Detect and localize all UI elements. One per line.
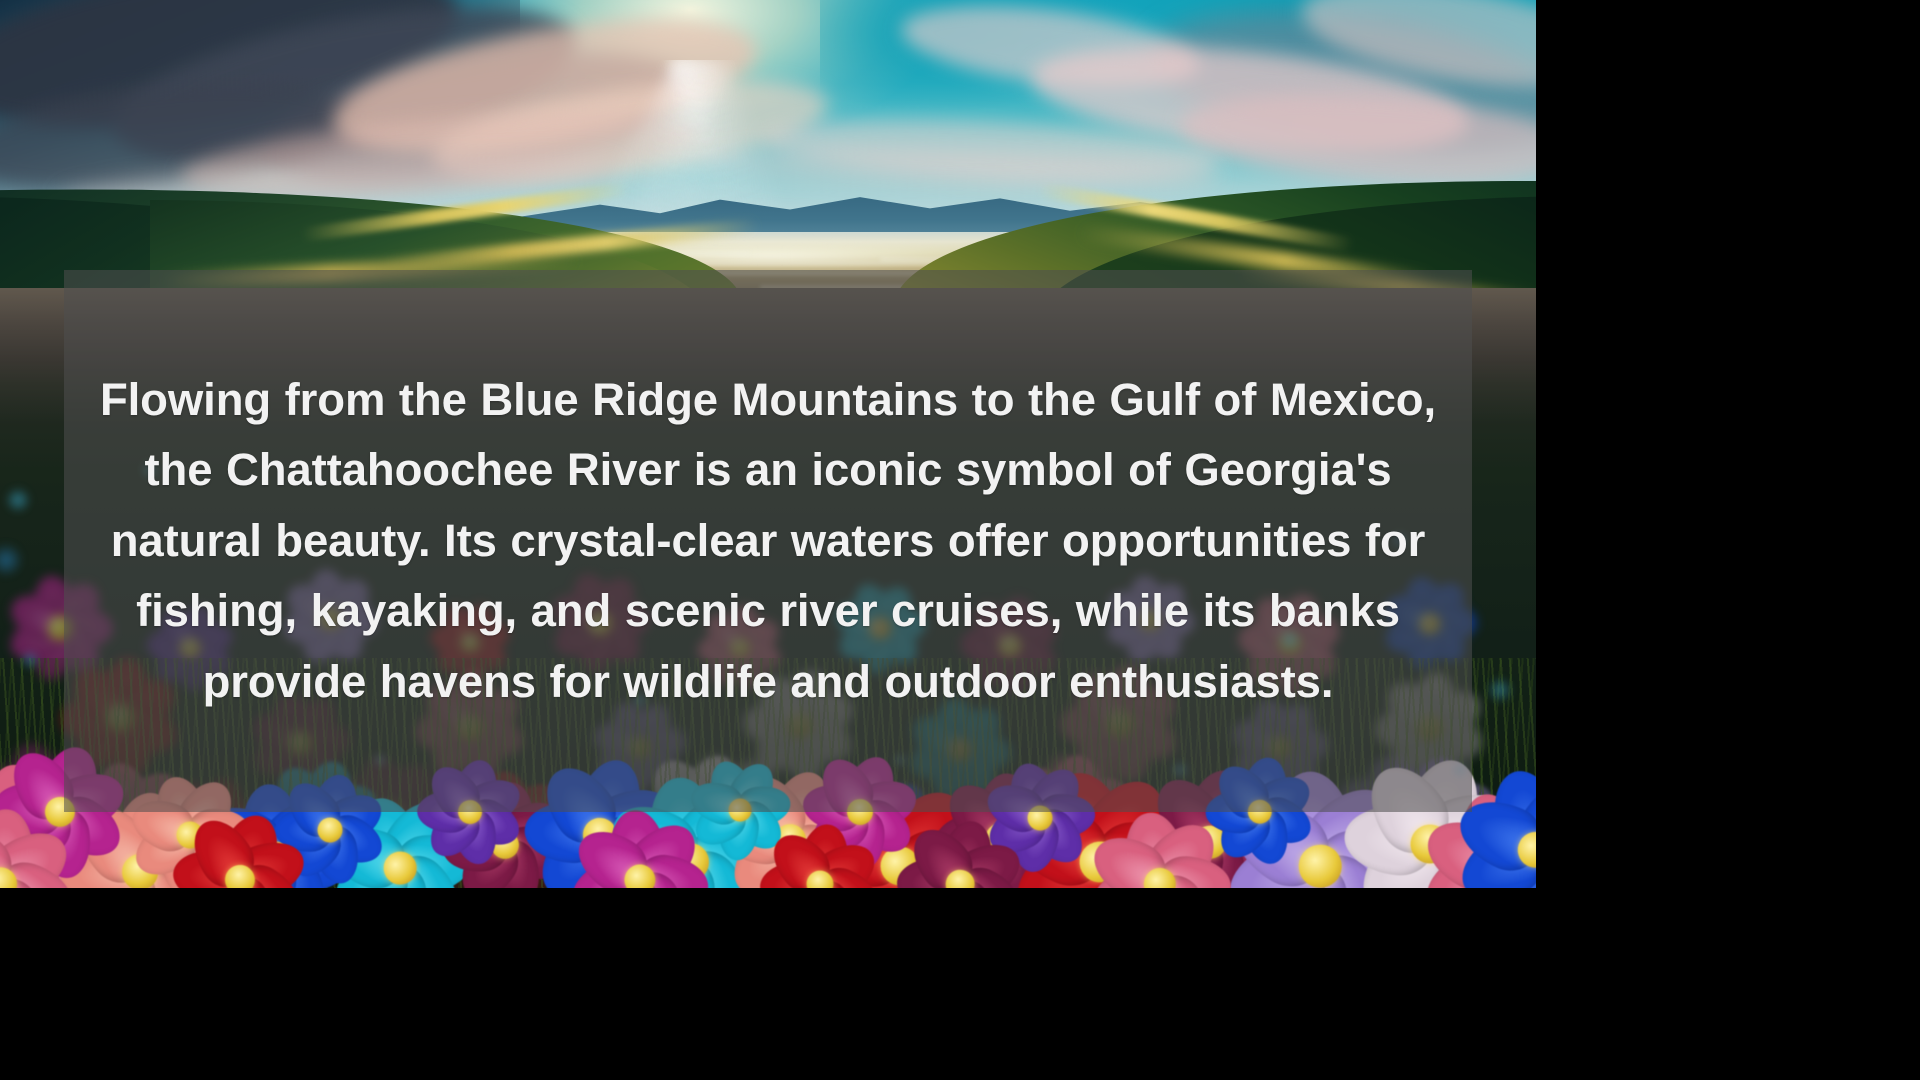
image-canvas: Flowing from the Blue Ridge Mountains to… [0,0,1536,888]
bokeh-light [20,650,40,670]
bokeh-light [1487,677,1513,703]
text-overlay-panel: Flowing from the Blue Ridge Mountains to… [64,270,1472,812]
bokeh-light [5,487,31,513]
overlay-paragraph: Flowing from the Blue Ridge Mountains to… [98,365,1438,718]
